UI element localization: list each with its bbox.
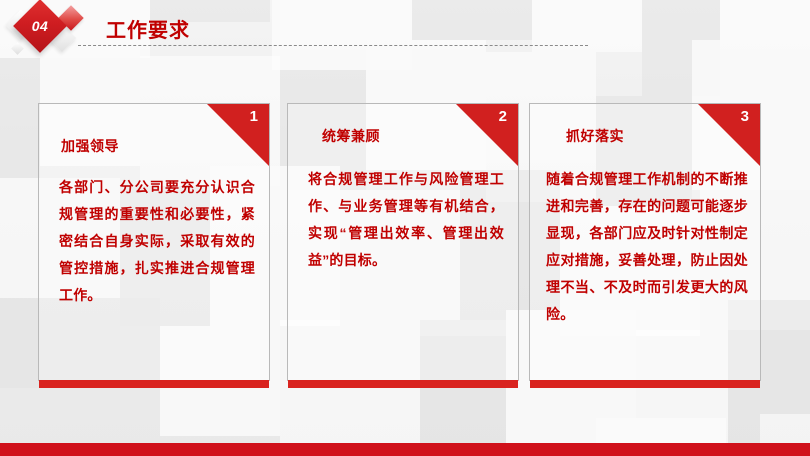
- card-title: 统筹兼顾: [322, 126, 380, 146]
- card-index-label: 2: [499, 109, 507, 124]
- content-card-2: 2 统筹兼顾 将合规管理工作与风险管理工作、与业务管理等有机结合，实现“管理出效…: [287, 103, 519, 381]
- card-corner-badge: 1: [207, 104, 269, 166]
- title-divider: [78, 45, 588, 46]
- content-card-3: 3 抓好落实 随着合规管理工作机制的不断推进和完善，存在的问题可能逐步显现，各部…: [529, 103, 761, 381]
- slide-header: 04 工作要求: [0, 0, 810, 70]
- page-title: 工作要求: [106, 14, 190, 43]
- card-title: 加强领导: [61, 136, 119, 156]
- corner-triangle-shape: [207, 104, 269, 166]
- section-number-label: 04: [21, 7, 59, 45]
- card-body-text: 将合规管理工作与风险管理工作、与业务管理等有机结合，实现“管理出效率、管理出效益…: [308, 166, 504, 274]
- corner-triangle-shape: [698, 104, 760, 166]
- card-title: 抓好落实: [566, 126, 624, 146]
- card-index-label: 1: [250, 109, 258, 124]
- card-bottom-bar: [39, 380, 269, 388]
- card-index-label: 3: [741, 109, 749, 124]
- card-bottom-bar: [288, 380, 518, 388]
- card-corner-badge: 3: [698, 104, 760, 166]
- card-bottom-bar: [530, 380, 760, 388]
- footer-band: [0, 443, 810, 456]
- card-body-text: 各部门、分公司要充分认识合规管理的重要性和必要性，紧密结合自身实际，采取有效的管…: [59, 174, 255, 309]
- slide-canvas: 04 工作要求 1 加强领导 各部门、分公司要充分认识合规管理的重要性和必要性，…: [0, 0, 810, 456]
- card-corner-badge: 2: [456, 104, 518, 166]
- corner-triangle-shape: [456, 104, 518, 166]
- card-body-text: 随着合规管理工作机制的不断推进和完善，存在的问题可能逐步显现，各部门应及时针对性…: [546, 166, 748, 328]
- content-card-1: 1 加强领导 各部门、分公司要充分认识合规管理的重要性和必要性，紧密结合自身实际…: [38, 103, 270, 381]
